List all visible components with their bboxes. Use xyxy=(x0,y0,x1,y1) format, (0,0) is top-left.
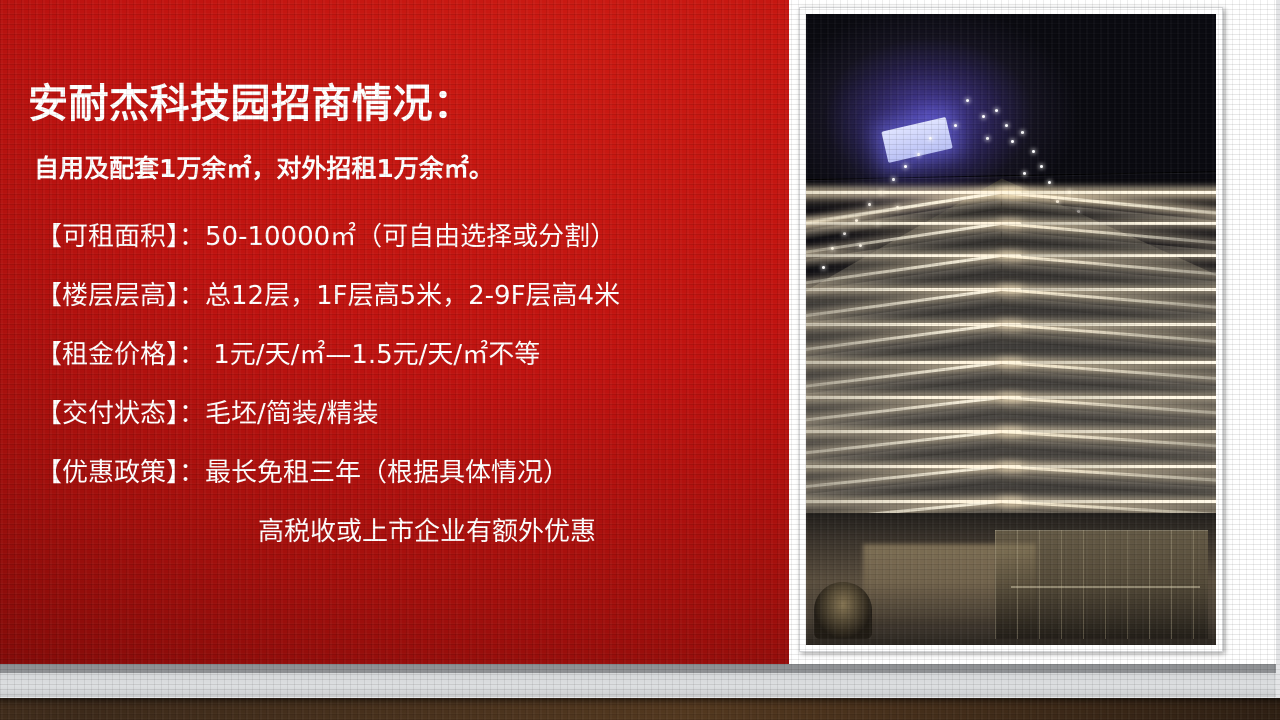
desktop-background: 安耐杰科技园招商情况： 自用及配套1万余㎡，对外招租1万余㎡。 【可租面积】：5… xyxy=(0,0,1280,720)
slide-frame: 安耐杰科技园招商情况： 自用及配套1万余㎡，对外招租1万余㎡。 【可租面积】：5… xyxy=(0,0,1280,698)
led-band-1 xyxy=(806,191,1216,217)
led-band-2 xyxy=(806,222,1216,248)
red-content-panel: 安耐杰科技园招商情况： 自用及配套1万余㎡，对外招租1万余㎡。 【可租面积】：5… xyxy=(0,0,789,664)
slide-bottom-edge xyxy=(0,673,1276,697)
page-title: 安耐杰科技园招商情况： xyxy=(28,84,474,124)
led-band-8 xyxy=(806,430,1216,456)
led-band-5 xyxy=(806,323,1216,349)
photo-frame xyxy=(799,7,1223,652)
lobby-glass-facade xyxy=(995,530,1208,638)
led-band-6 xyxy=(806,361,1216,387)
slide-surface: 安耐杰科技园招商情况： 自用及配套1万余㎡，对外招租1万余㎡。 【可租面积】：5… xyxy=(0,0,1276,664)
bullet-list: 【可租面积】：50-10000㎡（可自由选择或分割） 【楼层层高】：总12层，1… xyxy=(36,208,781,562)
led-band-7 xyxy=(806,396,1216,422)
list-item: 【交付状态】：毛坯/简装/精装 xyxy=(36,385,781,444)
list-item: 【租金价格】： 1元/天/㎡—1.5元/天/㎡不等 xyxy=(36,326,781,385)
entrance-awning xyxy=(1011,586,1200,588)
list-item: 【楼层层高】：总12层，1F层高5米，2-9F层高4米 xyxy=(36,267,781,326)
led-band-9 xyxy=(806,465,1216,491)
entrance-planter xyxy=(814,582,871,639)
list-item: 【优惠政策】：最长免租三年（根据具体情况） xyxy=(36,444,781,503)
led-band-4 xyxy=(806,288,1216,314)
led-band-3 xyxy=(806,254,1216,280)
slide-bottom-shadow xyxy=(0,664,1276,673)
list-item: 高税收或上市企业有额外优惠 xyxy=(36,503,781,562)
page-subtitle: 自用及配套1万余㎡，对外招租1万余㎡。 xyxy=(34,156,494,181)
list-item: 【可租面积】：50-10000㎡（可自由选择或分割） xyxy=(36,208,781,267)
photo-panel xyxy=(789,0,1276,664)
building-night-photo xyxy=(806,14,1216,645)
